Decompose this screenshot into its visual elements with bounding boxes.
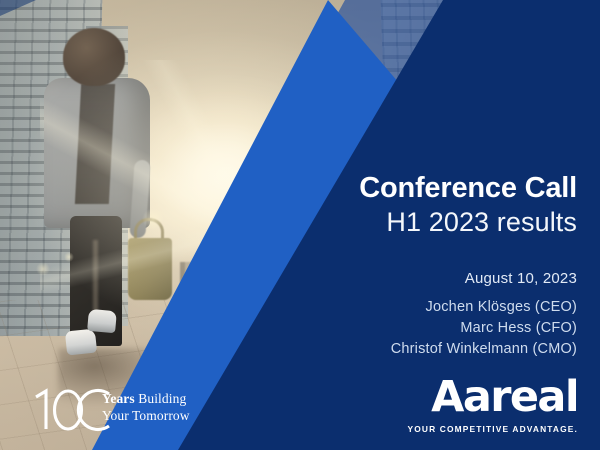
speaker-cmo: Christof Winkelmann (CMO) (157, 339, 577, 360)
logo-tagline: YOUR COMPETITIVE ADVANTAGE. (408, 424, 578, 434)
anniversary-mark: Years Building Your Tomorrow (30, 384, 190, 432)
figure-shoe-left (65, 328, 97, 355)
anniversary-100-numeral (30, 384, 122, 432)
figure-shoe-right (87, 309, 117, 333)
anniversary-building-word: Building (138, 391, 186, 406)
aareal-logo: Aareal YOUR COMPETITIVE ADVANTAGE. (408, 376, 578, 434)
title-block: Conference Call H1 2023 results (157, 172, 577, 239)
page-subtitle: H1 2023 results (157, 207, 577, 239)
presentation-slide: Conference Call H1 2023 results August 1… (0, 0, 600, 450)
presentation-date: August 10, 2023 (157, 270, 577, 287)
figure-head (63, 28, 125, 86)
meta-block: August 10, 2023 Jochen Klösges (CEO) Mar… (157, 270, 577, 360)
figure-lapel (75, 84, 115, 204)
page-title: Conference Call (157, 172, 577, 204)
speaker-ceo: Jochen Klösges (CEO) (157, 297, 577, 318)
logo-wordmark: Aareal (408, 376, 578, 419)
speaker-cfo: Marc Hess (CFO) (157, 318, 577, 339)
